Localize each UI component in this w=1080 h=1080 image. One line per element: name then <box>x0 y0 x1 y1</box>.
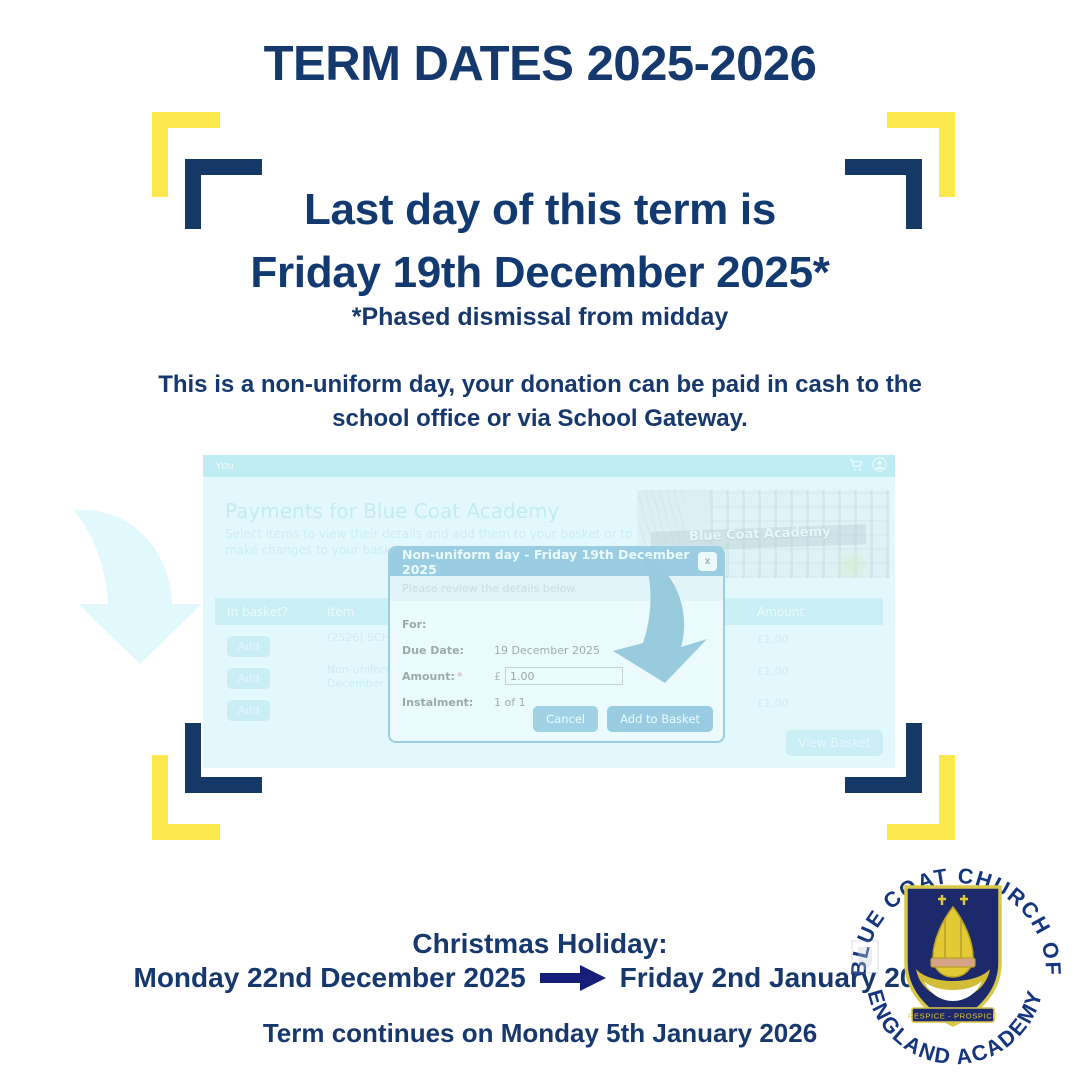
arrow-right-icon <box>540 963 606 993</box>
school-crest-logo: BLUE COAT CHURCH OF ENGLAND ACADEMY RESP… <box>838 845 1068 1070</box>
cell-amount: £1.00 <box>745 689 865 710</box>
field-value: 19 December 2025 <box>494 644 600 657</box>
gateway-page-heading: Payments for Blue Coat Academy <box>225 499 559 523</box>
crest-shield: RESPICE - PROSPICE <box>906 887 1000 1025</box>
cancel-button[interactable]: Cancel <box>533 706 598 732</box>
annotation-arrow-icon <box>591 555 716 683</box>
bracket-navy-vertical <box>185 723 201 793</box>
add-to-basket-submit-button[interactable]: Add to Basket <box>607 706 713 732</box>
field-label: Due Date: <box>402 644 494 657</box>
cell-amount: £1.00 <box>745 625 865 646</box>
bracket-yellow-vertical <box>152 755 168 840</box>
modal-actions: Cancel Add to Basket <box>533 706 713 732</box>
view-basket-button[interactable]: View Basket <box>786 730 883 756</box>
field-label-text: Amount: <box>402 670 455 683</box>
add-to-basket-button[interactable]: Add <box>227 700 270 721</box>
gateway-page-body: You Payments for Blue Coat Academy Selec <box>203 455 895 768</box>
headline: Last day of this term is Friday 19th Dec… <box>0 178 1080 304</box>
cell-amount: £1.00 <box>745 657 865 678</box>
field-label: Instalment: <box>402 696 494 709</box>
topbar-you-label: You <box>215 455 234 477</box>
field-value: 1 of 1 <box>494 696 526 709</box>
bracket-yellow-vertical <box>939 755 955 840</box>
donation-line-1: This is a non-uniform day, your donation… <box>0 368 1080 402</box>
crest-motto: RESPICE - PROSPICE <box>908 1012 998 1021</box>
holiday-start-date: Monday 22nd December 2025 <box>134 962 526 994</box>
bracket-navy-vertical <box>906 723 922 793</box>
shopping-cart-icon[interactable] <box>849 458 864 472</box>
photo-foliage <box>832 548 872 578</box>
user-account-icon[interactable] <box>872 457 887 472</box>
gateway-topbar: You <box>203 455 895 477</box>
donation-body-text: This is a non-uniform day, your donation… <box>0 368 1080 436</box>
topbar-icons <box>849 457 887 472</box>
headline-line-1: Last day of this term is <box>0 178 1080 241</box>
add-to-basket-button[interactable]: Add <box>227 668 270 689</box>
column-header-in-basket: In basket? <box>215 605 315 619</box>
column-header-amount: Amount <box>745 605 865 619</box>
page-title: TERM DATES 2025-2026 <box>0 36 1080 92</box>
add-to-basket-button[interactable]: Add <box>227 636 270 657</box>
dismissal-note: *Phased dismissal from midday <box>0 303 1080 332</box>
field-label: Amount:* <box>402 670 494 683</box>
headline-line-2: Friday 19th December 2025* <box>0 241 1080 304</box>
required-asterisk-icon: * <box>457 670 463 683</box>
poster-canvas: TERM DATES 2025-2026 Last day of this te… <box>0 0 1080 1080</box>
field-label: For: <box>402 618 494 631</box>
school-gateway-screenshot: You Payments for Blue Coat Academy Selec <box>203 455 895 768</box>
pointer-arrow-down-icon <box>62 492 212 667</box>
currency-symbol: £ <box>494 670 501 683</box>
donation-line-2: school office or via School Gateway. <box>0 402 1080 436</box>
